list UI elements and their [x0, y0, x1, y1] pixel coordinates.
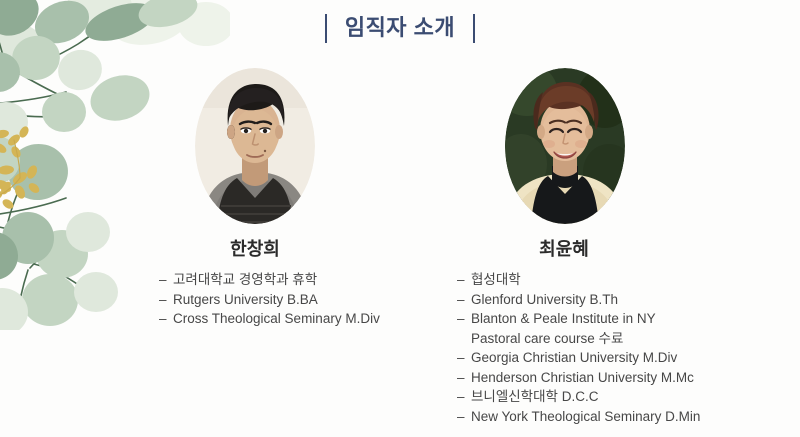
credential-text: Cross Theological Seminary M.Div: [173, 311, 380, 326]
page-title-row: 임직자 소개: [0, 13, 800, 43]
credential-item: –협성대학: [457, 270, 788, 290]
credential-text: Georgia Christian University M.Div: [471, 350, 677, 365]
profile-card-choi-yun-hye: 최윤혜 –협성대학 –Glenford University B.Th –Bla…: [443, 60, 788, 426]
credential-text: Blanton & Peale Institute in NY: [471, 311, 656, 326]
credential-item: –Rutgers University B.BA: [159, 290, 465, 310]
page-title: 임직자 소개: [345, 13, 455, 43]
credential-text: Henderson Christian University M.Mc: [471, 370, 694, 385]
slide-canvas: 임직자 소개: [0, 0, 800, 437]
credential-dash: –: [457, 309, 465, 329]
credential-item: –Henderson Christian University M.Mc: [457, 368, 788, 388]
credential-item: –Cross Theological Seminary M.Div: [159, 309, 465, 329]
credentials-list-choi-yun-hye: –협성대학 –Glenford University B.Th –Blanton…: [457, 270, 788, 426]
credential-text-continuation: Pastoral care course 수료: [471, 329, 788, 349]
credential-dash: –: [457, 407, 465, 427]
credential-text: 협성대학: [471, 272, 521, 287]
credential-item: –Glenford University B.Th: [457, 290, 788, 310]
credential-dash: –: [159, 290, 167, 310]
credential-item: –Georgia Christian University M.Div: [457, 348, 788, 368]
credential-dash: –: [457, 270, 465, 290]
credential-text: New York Theological Seminary D.Min: [471, 409, 700, 424]
title-left-divider: [325, 14, 327, 43]
credential-text: Glenford University B.Th: [471, 292, 618, 307]
credential-item: –브니엘신학대학 D.C.C: [457, 387, 788, 407]
credential-item: –고려대학교 경영학과 휴학: [159, 270, 465, 290]
credentials-list-han-chang-hui: –고려대학교 경영학과 휴학 –Rutgers University B.BA …: [159, 270, 465, 329]
credential-text: Rutgers University B.BA: [173, 292, 318, 307]
person-name-han-chang-hui: 한창희: [135, 238, 375, 260]
credential-item: –Blanton & Peale Institute in NY Pastora…: [457, 309, 788, 348]
credential-dash: –: [159, 309, 167, 329]
profile-card-han-chang-hui: 한창희 –고려대학교 경영학과 휴학 –Rutgers University B…: [135, 60, 465, 329]
credential-dash: –: [457, 387, 465, 407]
credential-dash: –: [457, 290, 465, 310]
credential-item: –New York Theological Seminary D.Min: [457, 407, 788, 427]
credential-text: 브니엘신학대학 D.C.C: [471, 389, 598, 404]
portrait-photo-choi-yun-hye: [505, 68, 625, 224]
credential-dash: –: [159, 270, 167, 290]
person-name-choi-yun-hye: 최윤혜: [443, 238, 685, 260]
portrait-photo-han-chang-hui: [195, 68, 315, 224]
credential-text: 고려대학교 경영학과 휴학: [173, 272, 317, 287]
credential-dash: –: [457, 348, 465, 368]
title-right-divider: [473, 14, 475, 43]
credential-dash: –: [457, 368, 465, 388]
